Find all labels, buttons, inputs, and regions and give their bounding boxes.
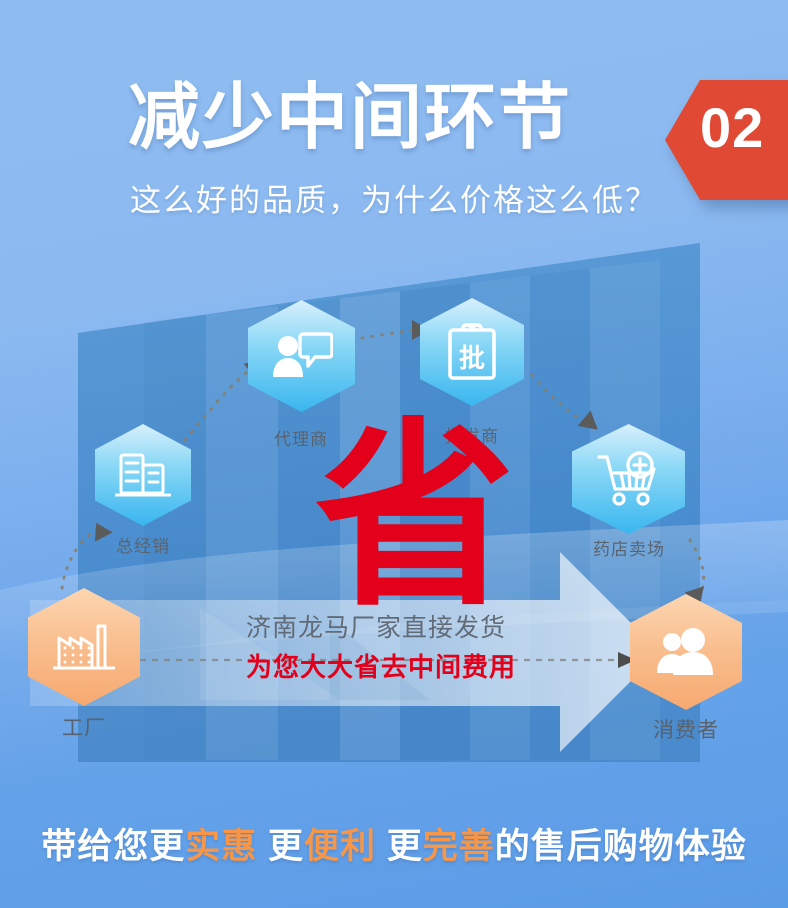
pharmacy-cart-icon (596, 451, 662, 507)
tagline-part-3: 便利 (304, 827, 376, 866)
tagline-part-5: 完善 (423, 827, 495, 866)
save-character: 省 (315, 418, 515, 618)
tagline-part-4: 更 (376, 827, 423, 866)
node-label-consumer: 消费者 (626, 714, 746, 744)
header: 02 减少中间环节 这么好的品质，为什么价格这么低？ (0, 0, 788, 250)
tagline-part-6: 的售后购物体验 (495, 827, 747, 866)
node-label-pharmacy: 药店卖场 (568, 535, 690, 560)
clipboard-icon-glyph: 批 (459, 344, 485, 374)
page-subtitle: 这么好的品质，为什么价格这么低？ (130, 182, 658, 219)
factory-icon (53, 620, 115, 674)
infographic-canvas: 02 减少中间环节 这么好的品质，为什么价格这么低？ 工厂 (0, 0, 788, 908)
page-title: 减少中间环节 (128, 82, 572, 154)
tagline-part-2: 更 (257, 827, 304, 866)
cost-saving-text: 为您大大省去中间费用 (246, 647, 516, 684)
footer-tagline: 带给您更实惠 更便利 更完善的售后购物体验 (0, 818, 788, 869)
building-icon (115, 450, 171, 500)
tagline-part-0: 带给您更 (41, 827, 185, 866)
tagline-part-1: 实惠 (185, 827, 257, 866)
node-label-distributor: 总经销 (83, 532, 203, 557)
clipboard-icon: 批 (446, 322, 498, 382)
agent-chat-icon (271, 330, 333, 382)
direct-shipping-text: 济南龙马厂家直接发货 (246, 608, 506, 644)
section-number-text: 02 (700, 100, 764, 156)
consumers-icon (655, 627, 717, 677)
node-label-factory: 工厂 (28, 712, 140, 742)
